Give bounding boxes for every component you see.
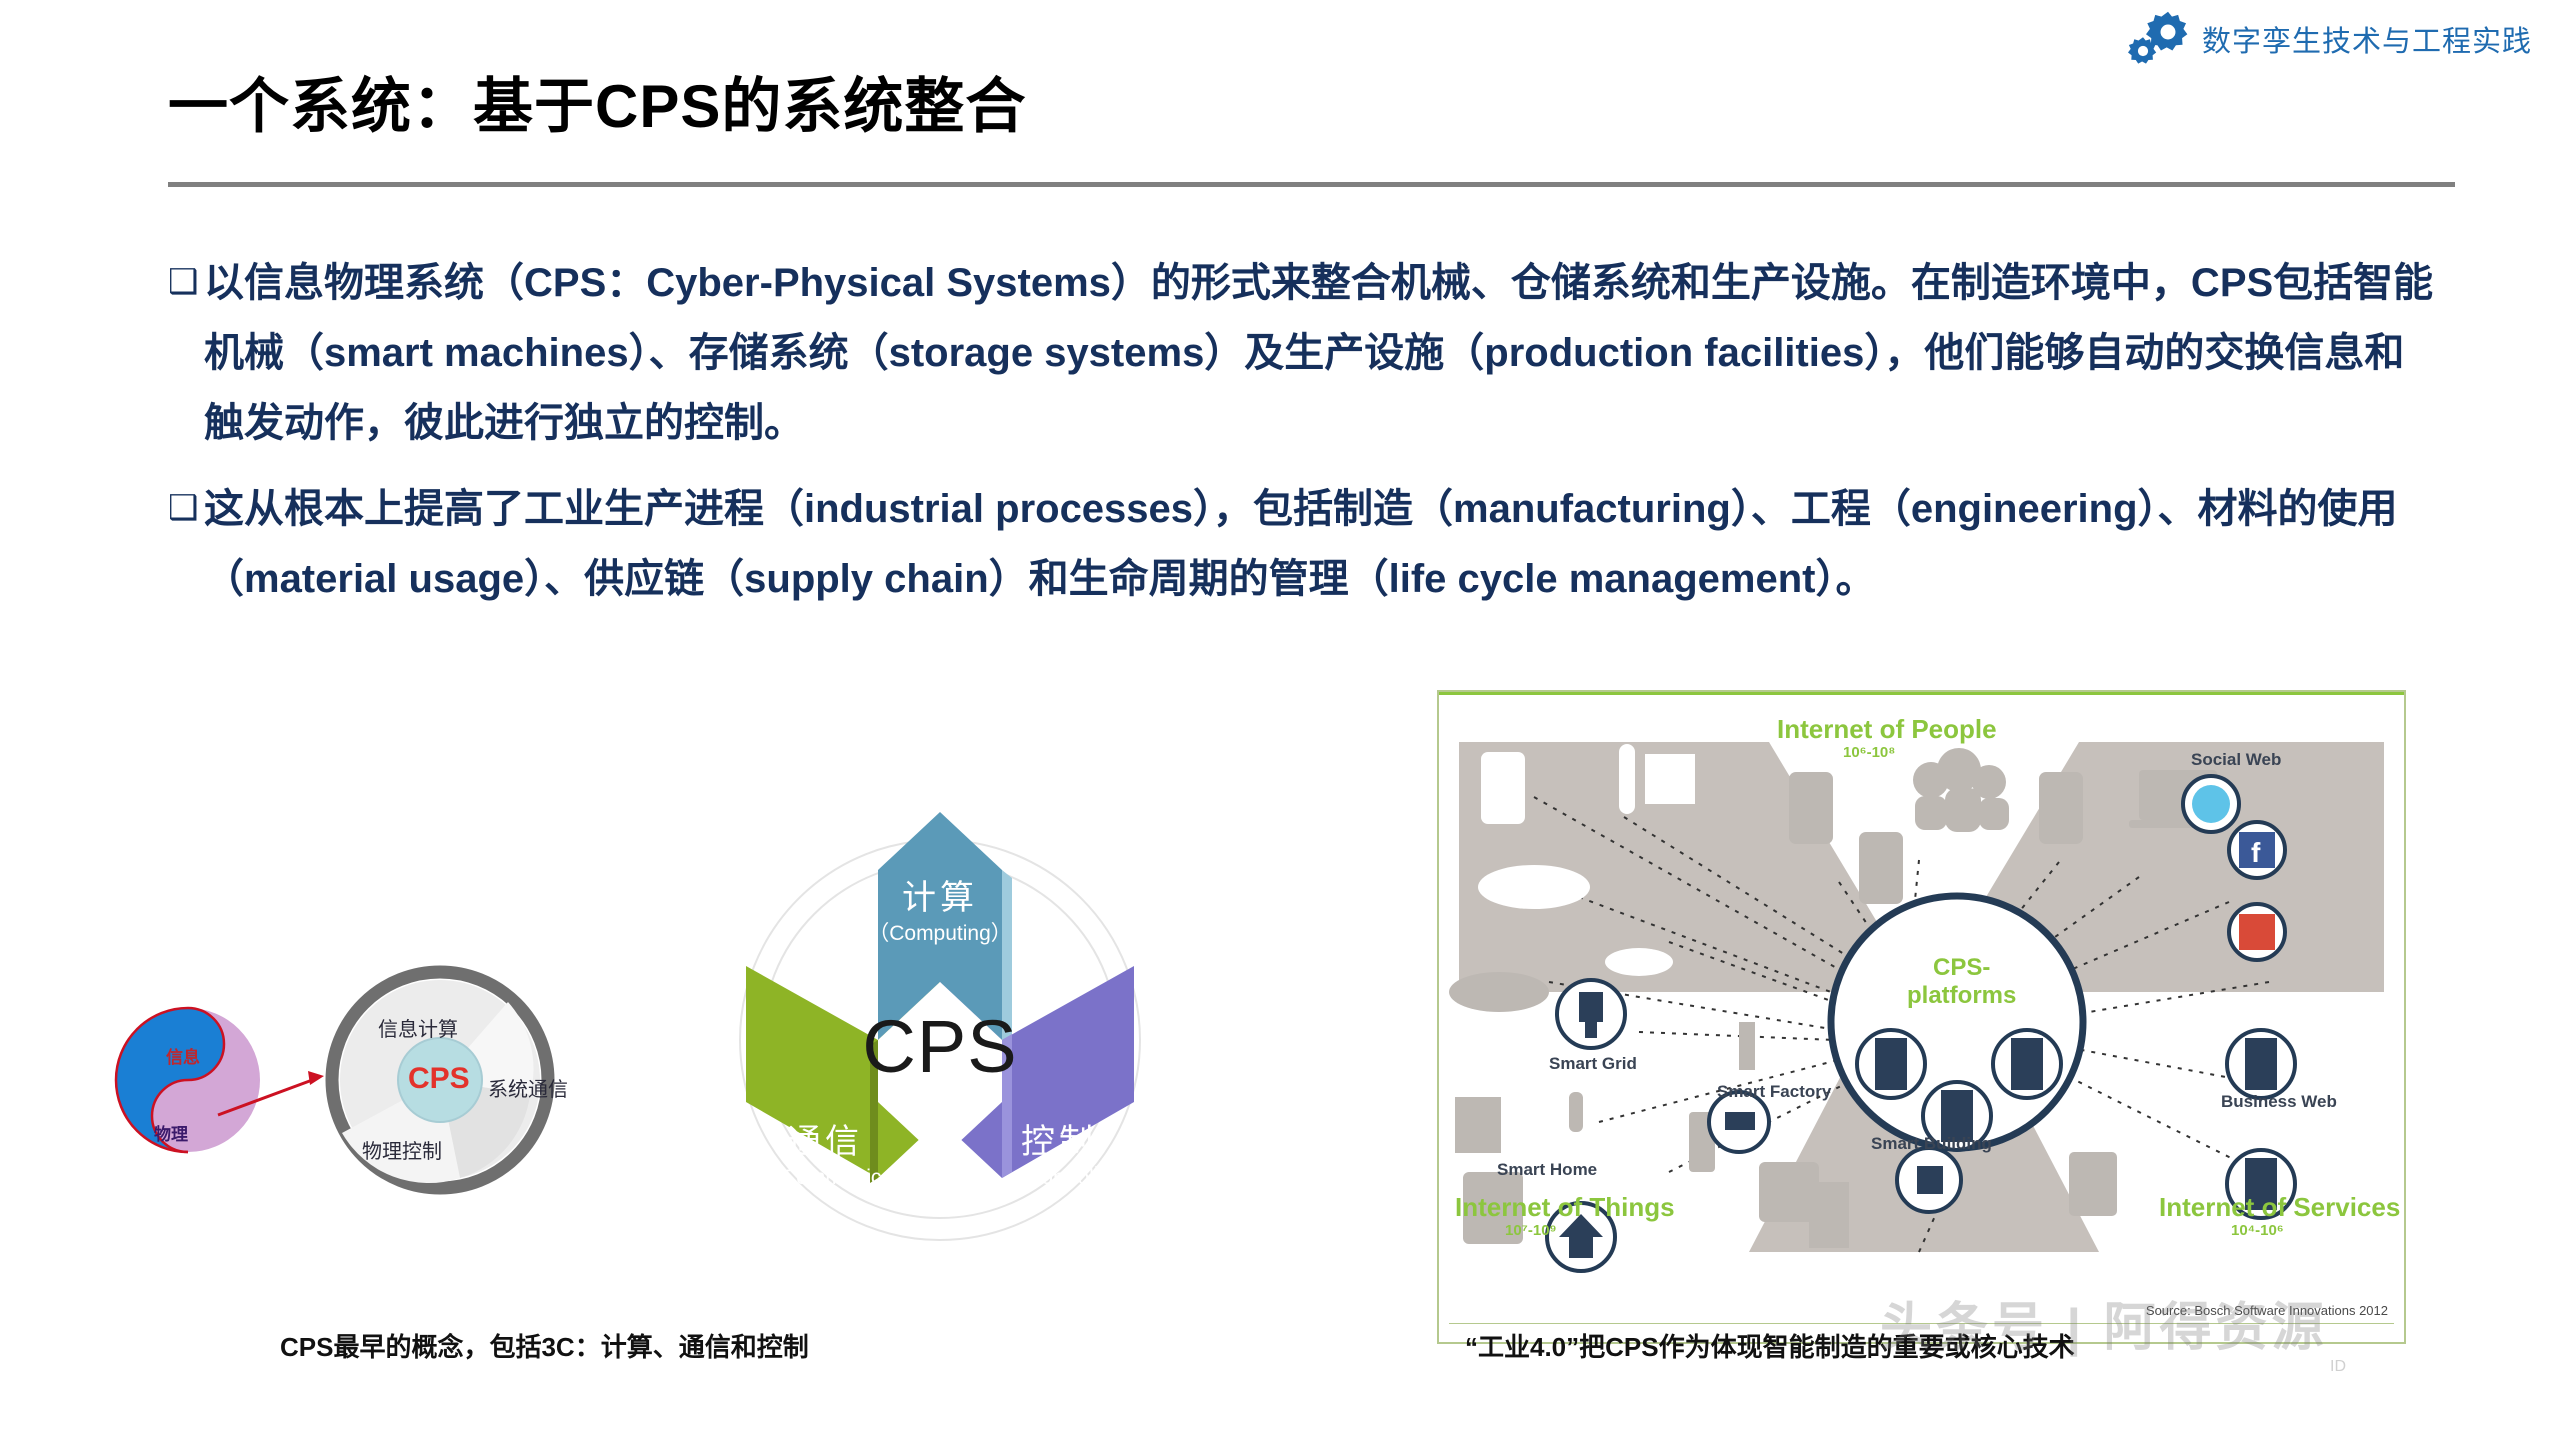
yinyang-label-physical: 物理 [154, 1120, 188, 1145]
label-internet-of-things: Internet of Things [1455, 1192, 1675, 1223]
cps-platforms-line1: CPS- [1907, 954, 2016, 982]
label-internet-of-services: Internet of Services [2159, 1192, 2400, 1223]
logo-gear-group [2128, 10, 2192, 68]
node-label-smart-factory: Smart Factory [1717, 1082, 1831, 1102]
bosch-diagram-graphics: f [1439, 692, 2400, 1338]
label-internet-of-people-exponent: 10⁶-10⁸ [1843, 744, 1895, 761]
yinyang-label-information: 信息 [166, 1043, 200, 1068]
gear-icon [2128, 36, 2158, 66]
googleplus-icon [2239, 914, 2275, 950]
brand-title: 数字孪生技术与工程实践 [2202, 18, 2532, 60]
label-internet-of-people: Internet of People [1777, 714, 1997, 745]
label-internet-of-services-exponent: 10⁴-10⁶ [2231, 1222, 2284, 1239]
hex-center-cps: CPS [862, 1004, 1017, 1089]
watermark-id: ID [2330, 1358, 2346, 1376]
figure-industry40-cps-platforms: f [1437, 690, 2406, 1344]
smart-building-icon [1897, 1148, 1961, 1212]
watermark-text: 头条号 | 阿得资源 [1880, 1285, 2327, 1360]
svg-text:f: f [2251, 837, 2261, 868]
node-label-smart-grid: Smart Grid [1549, 1054, 1637, 1074]
node-label-business-web: Business Web [2221, 1092, 2337, 1112]
header-logo: 数字孪生技术与工程实践 [2128, 10, 2532, 68]
door-icon [1809, 1182, 1849, 1248]
figure-yinyang-cps: 信息 物理 信息计算 系统通信 物理控制 CPS [110, 955, 620, 1205]
disc-label-computing: 信息计算 [378, 1013, 458, 1042]
disc-label-control: 物理控制 [362, 1135, 442, 1164]
disc-label-communication: 系统通信 [488, 1073, 568, 1102]
cps-platforms-label: CPS- platforms [1907, 954, 2016, 1010]
bullet-marker-icon: ❑ [168, 248, 204, 316]
title-divider [168, 182, 2455, 187]
label-internet-of-things-exponent: 10⁷-10⁹ [1505, 1222, 1557, 1239]
list-item: ❑ 这从根本上提高了工业生产进程（industrial processes），包… [168, 474, 2438, 614]
smart-grid-icon [1557, 980, 1625, 1048]
disc-center-cps: CPS [408, 1062, 470, 1096]
cps-platforms-line2: platforms [1907, 982, 2016, 1010]
caption-left: CPS最早的概念，包括3C：计算、通信和控制 [280, 1327, 809, 1364]
node-label-smart-building: Smart Building [1871, 1134, 1992, 1154]
list-item: ❑ 以信息物理系统（CPS：Cyber-Physical Systems）的形式… [168, 248, 2438, 458]
business-web-servers [2227, 1030, 2295, 1218]
node-label-social-web: Social Web [2191, 750, 2281, 770]
bullet-text: 以信息物理系统（CPS：Cyber-Physical Systems）的形式来整… [204, 248, 2438, 458]
page-title: 一个系统：基于CPS的系统整合 [168, 58, 1026, 145]
yinyang-icon [116, 1008, 260, 1152]
figure-hexagon-3c: 计算 （Computing） 通信 （Communication） 控制 （Co… [730, 790, 1150, 1250]
bullet-text: 这从根本上提高了工业生产进程（industrial processes），包括制… [204, 474, 2438, 614]
twitter-icon [2192, 785, 2230, 823]
node-label-smart-home: Smart Home [1497, 1160, 1597, 1180]
bullet-list: ❑ 以信息物理系统（CPS：Cyber-Physical Systems）的形式… [168, 248, 2438, 630]
bullet-marker-icon: ❑ [168, 474, 204, 542]
